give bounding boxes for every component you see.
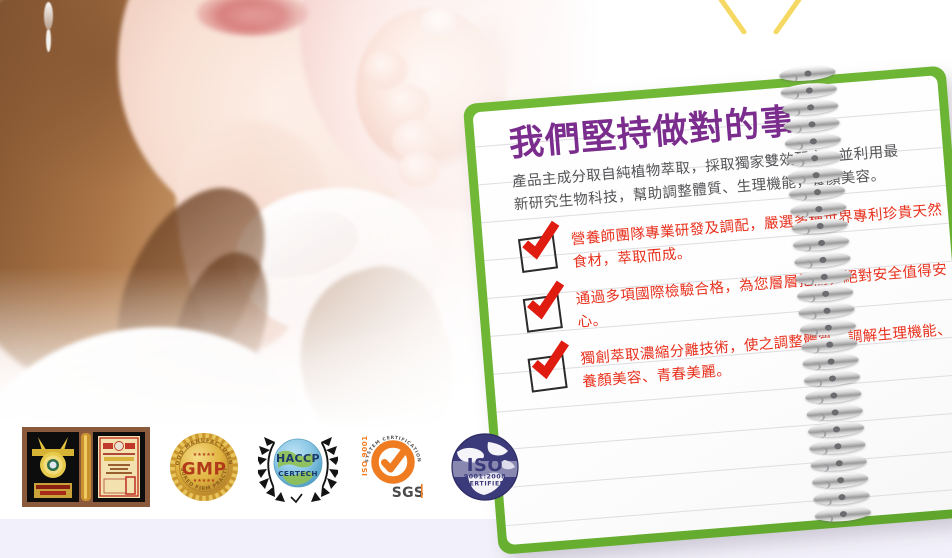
spiral-coil-ring (782, 98, 839, 117)
coil-tail-shape (788, 158, 805, 168)
svg-text:9001:2008: 9001:2008 (464, 474, 506, 481)
spiral-coil-ring (797, 285, 854, 304)
spiral-coil-ring (812, 471, 869, 490)
spiral-coil-ring (787, 166, 844, 185)
coil-tail-shape (817, 514, 834, 524)
coil-tail-shape (795, 243, 812, 253)
gold-arc-fragment-icon (700, 0, 820, 34)
coil-tail-shape (814, 480, 831, 490)
spiral-coil-ring (813, 488, 870, 507)
spiral-coil-ring (790, 200, 847, 219)
coil-tail-shape (811, 446, 828, 456)
svg-text:HACCP: HACCP (276, 452, 320, 465)
svg-text:SGS: SGS (392, 485, 425, 501)
award-plaque-label: folded presentation plaque (150, 427, 151, 428)
spiral-coil-ring (779, 64, 836, 83)
haccp-badge: HACCP CERTECH HACCP (258, 429, 338, 509)
coil-tail-shape (798, 277, 815, 287)
gmp-badge: GOOD MANUFACTURING ASSURED FIRM PRACTICE… (168, 431, 240, 507)
spiral-coil-ring (806, 403, 863, 422)
coil-tail-shape (809, 412, 826, 422)
coil-tail-shape (816, 497, 833, 507)
coil-tail-shape (807, 395, 824, 405)
spiral-coil-ring (783, 115, 840, 134)
spiral-coil-ring (793, 234, 850, 253)
checklist: 營養師團隊專業研發及調配，嚴選多種世界專利珍貴天然食材，萃取而成。 通過多項國際… (516, 198, 952, 400)
coil-tail-shape (805, 361, 822, 371)
coil-tail-shape (787, 141, 804, 151)
spiral-coil-ring (794, 251, 851, 270)
award-plaque-badge: folded presentation plaque (22, 427, 150, 511)
coil-tail-shape (806, 378, 823, 388)
spiral-notebook: 我們堅持做對的事 產品主成分取自純植物萃取，採取獨家雙效配方，並利用最新研究生物… (463, 64, 952, 558)
svg-text:GMP: GMP (182, 460, 227, 480)
spiral-coil-ring (784, 132, 841, 151)
spiral-coil-ring (805, 386, 862, 405)
notebook-page: 我們堅持做對的事 產品主成分取自純植物萃取，採取獨家雙效配方，並利用最新研究生物… (472, 75, 952, 545)
spiral-coil-ring (798, 302, 855, 321)
coil-tail-shape (813, 463, 830, 473)
spiral-coil-ring (803, 369, 860, 388)
coil-tail-shape (784, 107, 801, 117)
coil-tail-shape (799, 294, 816, 304)
spiral-coil-ring (789, 183, 846, 202)
spiral-coil-ring (799, 319, 856, 338)
spiral-coil-ring (809, 437, 866, 456)
coil-tail-shape (786, 124, 803, 134)
coil-tail-shape (791, 192, 808, 202)
svg-text:★★★★★: ★★★★★ (193, 478, 216, 484)
spiral-coil-ring (810, 454, 867, 473)
spiral-coil-ring (808, 420, 865, 439)
gmp-label: GMP (240, 431, 241, 432)
spiral-coil-ring (814, 505, 871, 524)
coil-tail-shape (803, 345, 820, 355)
sgs-badge: SYSTEM CERTIFICATION ISO 9001 SGS SGS (356, 430, 430, 508)
spiral-coil-ring (791, 217, 848, 236)
svg-text:CERTECH: CERTECH (278, 469, 318, 478)
spiral-coil-ring (780, 81, 837, 100)
coil-tail-shape (790, 175, 807, 185)
coil-tail-shape (781, 73, 798, 83)
coil-tail-shape (802, 328, 819, 338)
iso-badge: ISO 9001:2008 CERTIFIED ISO (448, 430, 522, 508)
coil-tail-shape (794, 226, 811, 236)
promotional-banner: 我們堅持做對的事 產品主成分取自純植物萃取，採取獨家雙效配方，並利用最新研究生物… (0, 0, 952, 558)
checkmark-icon (520, 277, 567, 324)
svg-text:ISO 9001: ISO 9001 (360, 435, 369, 476)
svg-text:CERTIFIED: CERTIFIED (464, 481, 505, 488)
checkmark-icon (525, 337, 572, 384)
spiral-coil-ring (801, 335, 858, 354)
spiral-coil-ring (802, 352, 859, 371)
coil-tail-shape (801, 311, 818, 321)
coil-tail-shape (783, 90, 800, 100)
certification-badges: folded presentation plaque (22, 428, 522, 510)
checkmark-icon (515, 217, 562, 264)
notebook-text-block: 我們堅持做對的事 產品主成分取自純植物萃取，採取獨家雙效配方，並利用最新研究生物… (508, 93, 952, 412)
sgs-label: SGS (430, 430, 431, 431)
svg-text:★★★★★: ★★★★★ (193, 452, 216, 458)
coil-tail-shape (792, 209, 809, 219)
haccp-label: HACCP (338, 429, 339, 430)
spiral-coil-ring (786, 149, 843, 168)
coil-tail-shape (810, 429, 827, 439)
spiral-coil-ring (795, 268, 852, 287)
coil-tail-shape (796, 260, 813, 270)
